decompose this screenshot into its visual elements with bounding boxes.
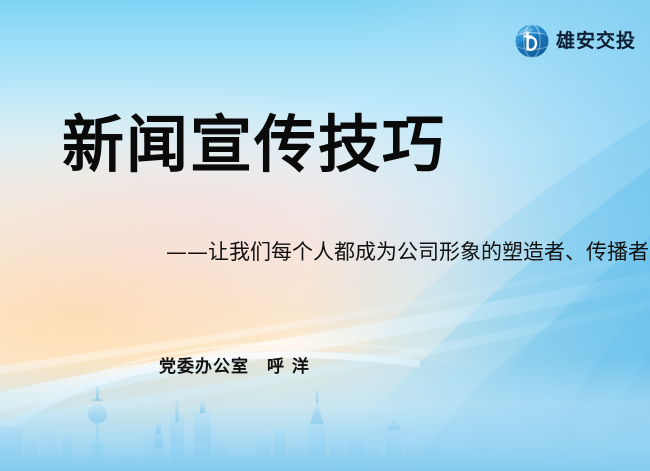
company-name: 雄安交投 <box>556 32 636 51</box>
oriental-pearl-tower <box>84 386 111 471</box>
slide-title: 新闻宣传技巧 <box>62 108 446 181</box>
sky-arc <box>0 343 650 471</box>
ribbon-foreground <box>410 250 650 471</box>
ground-band <box>0 456 650 471</box>
light-streaks <box>0 250 650 432</box>
globe-emblem-icon <box>515 24 549 58</box>
slide-subtitle: ——让我们每个人都成为公司形象的塑造者、传播者 <box>166 239 649 266</box>
background-pink-haze <box>0 0 650 471</box>
background-warm-wash <box>0 0 650 471</box>
background-artwork <box>0 0 650 471</box>
shanghai-tower <box>170 400 184 471</box>
company-logo: 雄安交投 <box>515 24 636 58</box>
background-sky-gradient <box>0 0 650 471</box>
slide-byline: 党委办公室 呼 洋 <box>159 356 310 378</box>
title-slide: 雄安交投 新闻宣传技巧 ——让我们每个人都成为公司形象的塑造者、传播者 党委办公… <box>0 0 650 471</box>
skyline-back <box>8 424 604 471</box>
skyline-front <box>0 386 642 471</box>
spire-tower <box>308 390 326 471</box>
background-right-blue <box>0 0 650 471</box>
background-lower-blue <box>0 0 650 471</box>
